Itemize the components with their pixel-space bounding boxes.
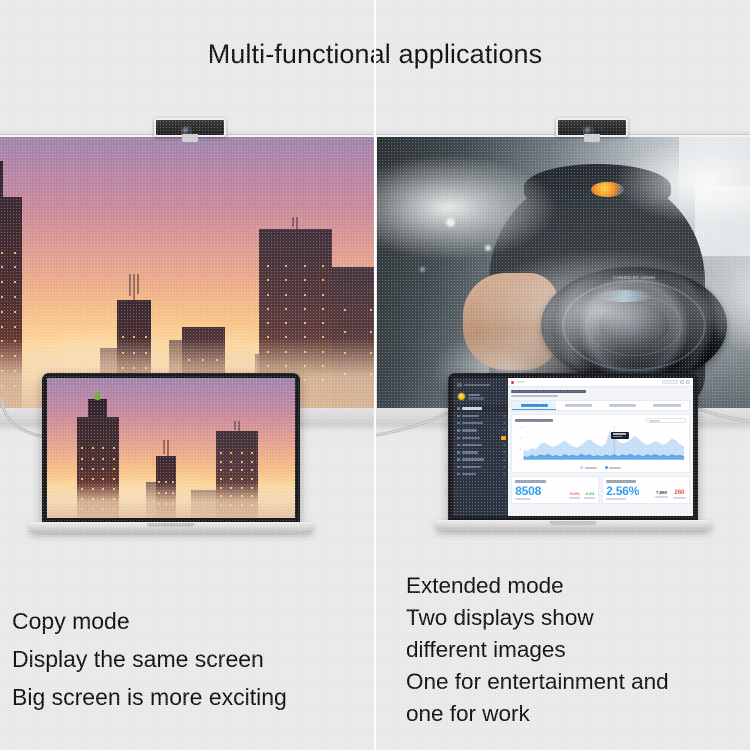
left-laptop-base xyxy=(29,522,313,533)
kpi-row: 8508 +0.0% xyxy=(511,476,690,504)
avatar xyxy=(457,392,466,401)
kpi-card-primary: 8508 +0.0% xyxy=(511,476,599,504)
left-caption-line-1: Copy mode xyxy=(12,602,287,640)
kpi-card-secondary: 2.56% 7,860 xyxy=(602,476,690,504)
kpi-delta-down-value: -0.0% xyxy=(584,492,595,496)
panel-divider xyxy=(374,0,376,750)
chevron-right-icon xyxy=(503,473,506,476)
left-laptop-screen xyxy=(47,378,295,518)
nav-badge xyxy=(501,436,506,440)
sidebar-item-2[interactable] xyxy=(453,420,508,427)
sidebar-item-dashboard[interactable] xyxy=(453,405,508,412)
user-meta xyxy=(468,394,484,400)
chevron-right-icon xyxy=(503,415,506,418)
nav-bullet-icon xyxy=(457,466,460,469)
kpi-small-2-value: 260 xyxy=(673,490,686,496)
city-haze xyxy=(47,482,295,518)
topbar-left xyxy=(511,381,660,384)
sidebar-item-4[interactable] xyxy=(453,434,508,441)
nav-bullet-icon xyxy=(457,458,460,461)
topbar-search[interactable] xyxy=(662,380,678,384)
tab-0[interactable] xyxy=(512,401,556,410)
left-monitor-screen xyxy=(0,137,374,408)
kpi-delta-up: +0.0% xyxy=(569,492,580,499)
left-laptop-lid xyxy=(42,373,300,524)
chart-card-title xyxy=(515,419,553,422)
panel-extended-mode: CANON EF 16MM Letv xyxy=(376,108,750,750)
tab-3[interactable] xyxy=(645,401,689,410)
logo-mark-icon xyxy=(457,383,462,387)
right-caption-line-4: One for entertainment and xyxy=(406,666,669,698)
breadcrumb xyxy=(516,381,525,383)
right-caption-line-1: Extended mode xyxy=(406,570,669,602)
nav-bullet-icon xyxy=(457,415,460,418)
svg-text:0: 0 xyxy=(521,460,522,462)
dashboard-page-header xyxy=(511,390,690,397)
right-laptop-screen: 10067330 xyxy=(453,378,693,516)
cityscape-sunset xyxy=(0,137,374,408)
nav-bullet-icon xyxy=(457,437,460,440)
kpi-secondary-extras: 7,860 260 xyxy=(655,490,686,500)
left-laptop-notch xyxy=(147,523,195,527)
kpi-primary-title xyxy=(515,480,545,482)
legend-swatch xyxy=(580,466,583,469)
legend-swatch xyxy=(605,466,608,469)
dashboard-sidebar xyxy=(453,378,508,516)
chart-range-select[interactable] xyxy=(646,418,686,423)
dashboard-topbar xyxy=(508,378,693,387)
webcam-mic-dot xyxy=(599,126,603,130)
dashboard-logo xyxy=(453,380,508,390)
chart-plot-area: 10067330 xyxy=(515,425,686,465)
kpi-primary-deltas: +0.0% -0.0% xyxy=(569,492,595,500)
tab-1[interactable] xyxy=(556,401,600,410)
sidebar-item-5[interactable] xyxy=(453,441,508,448)
bell-icon[interactable] xyxy=(680,380,684,384)
legend-item-0[interactable] xyxy=(580,466,597,469)
cityscape-sunset-mirror xyxy=(47,378,295,518)
dashboard-body: 10067330 xyxy=(508,387,693,516)
kpi-secondary-value: 2.56% xyxy=(606,485,639,497)
right-caption-line-3: different images xyxy=(406,634,669,666)
left-caption: Copy mode Display the same screen Big sc… xyxy=(12,602,287,716)
dashboard-tabs xyxy=(511,400,690,411)
left-laptop xyxy=(42,373,300,533)
kpi-primary-value: 8508 xyxy=(515,485,541,497)
sidebar-item-1[interactable] xyxy=(453,412,508,419)
kpi-secondary-title xyxy=(606,480,636,482)
smoke-overlay xyxy=(377,137,750,408)
chart-tooltip xyxy=(611,432,629,439)
left-caption-line-2: Display the same screen xyxy=(12,640,287,678)
right-laptop-notch xyxy=(550,521,597,525)
sidebar-item-3[interactable] xyxy=(453,427,508,434)
area-chart-svg: 10067330 xyxy=(515,425,686,465)
analytics-dashboard: 10067330 xyxy=(453,378,693,516)
right-laptop-lid: 10067330 xyxy=(448,373,698,522)
antenna-group xyxy=(293,217,298,229)
nav-bullet-icon xyxy=(457,444,460,447)
webcam-icon xyxy=(154,118,226,137)
panel-copy-mode: Copy mode Display the same screen Big sc… xyxy=(0,108,374,750)
chevron-right-icon xyxy=(503,451,506,454)
webcam-mic-dot xyxy=(197,126,201,130)
kpi-small-1-value: 7,860 xyxy=(655,490,668,495)
sidebar-nav xyxy=(453,405,508,478)
chart-card-header xyxy=(515,418,686,423)
sidebar-item-8[interactable] xyxy=(453,463,508,470)
right-monitor-screen: CANON EF 16MM xyxy=(377,137,750,408)
nav-bullet-icon xyxy=(457,451,460,454)
kpi-secondary-sub xyxy=(606,498,626,500)
antenna-group xyxy=(164,440,169,456)
chevron-right-icon xyxy=(503,422,506,425)
sidebar-user[interactable] xyxy=(453,390,508,405)
chart-legend xyxy=(515,466,686,469)
webcam-icon xyxy=(556,118,628,137)
photographer-scene: CANON EF 16MM xyxy=(377,137,750,408)
chevron-right-icon xyxy=(503,429,506,432)
right-laptop-base xyxy=(436,520,711,531)
sidebar-item-6[interactable] xyxy=(453,449,508,456)
tab-2[interactable] xyxy=(601,401,645,410)
dashboard-main: 10067330 xyxy=(508,378,693,516)
webcam-mount xyxy=(584,134,600,142)
page-heading xyxy=(511,390,586,393)
right-caption-line-2: Two displays show xyxy=(406,602,669,634)
nav-bullet-icon xyxy=(457,422,460,425)
pin-icon[interactable] xyxy=(511,381,514,384)
kpi-delta-down: -0.0% xyxy=(584,492,595,499)
right-caption: Extended mode Two displays show differen… xyxy=(406,570,669,730)
antenna-group xyxy=(130,274,139,300)
kpi-small-1: 7,860 xyxy=(655,490,668,499)
nav-bullet-icon xyxy=(457,407,460,410)
svg-text:33: 33 xyxy=(520,449,522,451)
kpi-small-2: 260 xyxy=(673,490,686,499)
right-laptop: 10067330 xyxy=(448,373,698,531)
svg-text:100: 100 xyxy=(519,427,522,429)
webcam-mount xyxy=(182,134,198,142)
gear-icon[interactable] xyxy=(686,380,690,384)
chevron-right-icon xyxy=(503,465,506,468)
svg-text:67: 67 xyxy=(520,438,522,440)
kpi-delta-up-value: +0.0% xyxy=(569,492,580,496)
legend-item-1[interactable] xyxy=(605,466,622,469)
nav-bullet-icon xyxy=(457,429,460,432)
chart-card: 10067330 xyxy=(511,414,690,473)
kpi-secondary-row: 2.56% 7,860 xyxy=(606,485,686,500)
kpi-primary-sub xyxy=(515,498,531,500)
page-subheading xyxy=(511,395,557,397)
sidebar-item-7[interactable] xyxy=(453,456,508,463)
left-caption-line-3: Big screen is more exciting xyxy=(12,678,287,716)
area-chart: 10067330 xyxy=(515,425,686,465)
kpi-primary-row: 8508 +0.0% xyxy=(515,485,595,500)
chevron-right-icon xyxy=(503,444,506,447)
right-caption-line-5: one for work xyxy=(406,698,669,730)
antenna-group xyxy=(234,421,239,431)
sidebar-item-9[interactable] xyxy=(453,471,508,478)
chevron-right-icon xyxy=(503,458,506,461)
nav-bullet-icon xyxy=(457,473,460,476)
